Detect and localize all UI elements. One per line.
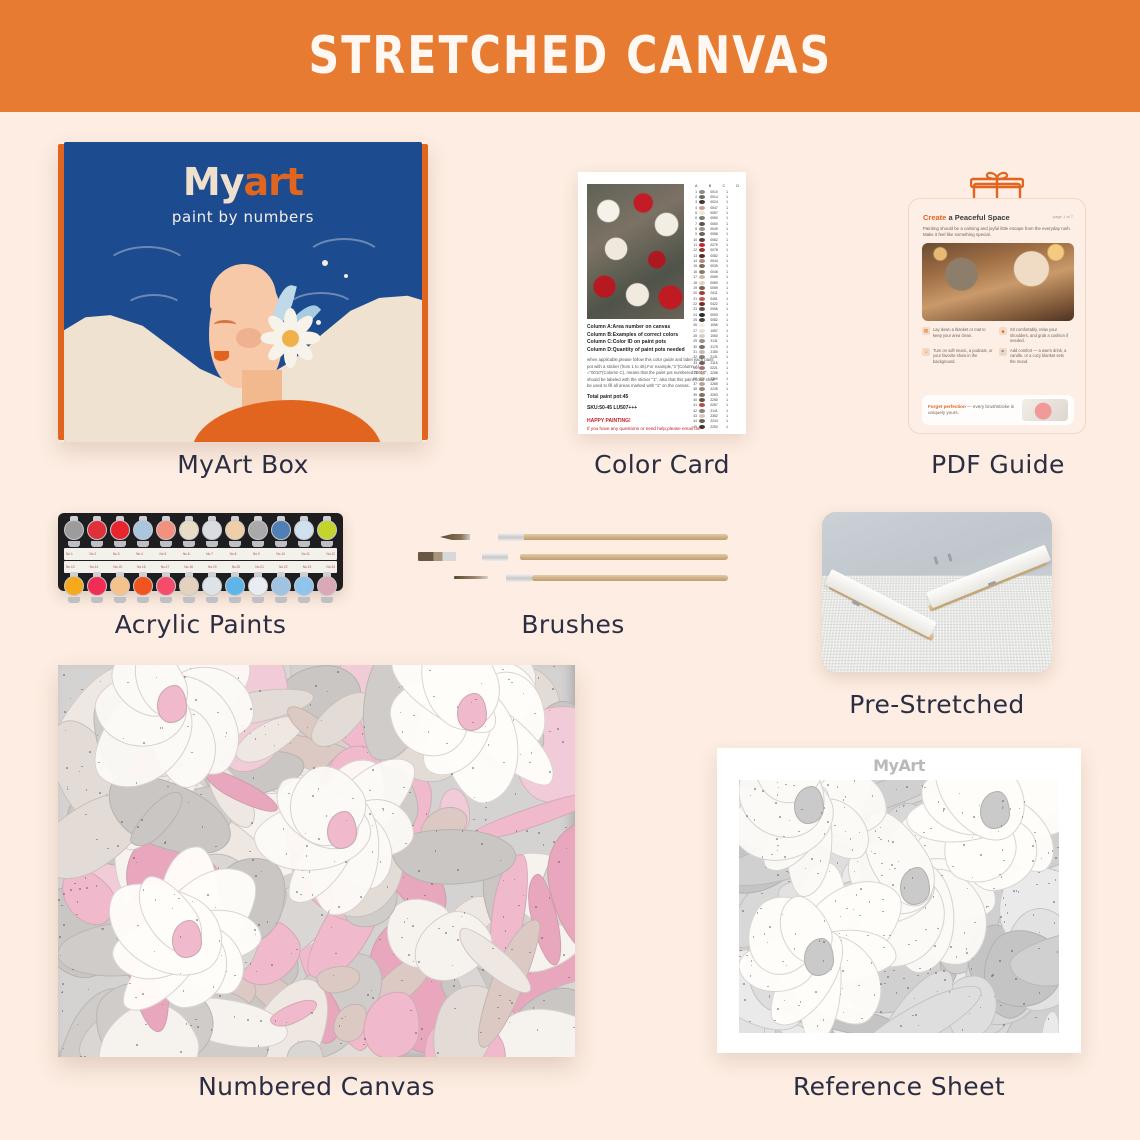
paint-pot [110,518,130,546]
paint-number-speck [762,790,764,792]
paint-number-speck [1053,901,1055,903]
paint-number-speck [1004,921,1006,923]
paint-number-speck [431,883,433,885]
paint-number-label: No.12 [326,552,335,556]
pdf-page-number: page 1 of 7 [1053,214,1073,219]
paint-number-speck [892,884,894,886]
paint-number-speck [70,889,72,891]
flower-core-region [980,791,1010,829]
paint-number-speck [779,816,781,818]
paint-number-label: No.18 [184,565,193,569]
pdf-guide-title: Create a Peaceful Space [923,213,1010,222]
pdf-tip-item: ☕Add comfort — a warm drink, a candle, o… [999,348,1070,365]
paint-number-speck [950,946,952,948]
pdf-tip-text: Add comfort — a warm drink, a candle, or… [1010,348,1070,365]
paint-number-speck [143,742,145,744]
paint-number-speck [823,941,825,943]
callout-accent: Forget perfection [928,404,966,409]
paint-number-speck [412,925,414,927]
paint-pot [87,574,107,602]
flower-core-region [327,811,357,849]
paint-pot [156,518,176,546]
paint-pot [248,574,268,602]
flower-core-region [172,920,202,958]
paint-number-speck [174,894,176,896]
paint-number-speck [750,975,752,977]
paint-number-speck [234,975,236,977]
paint-number-label: No.1 [66,552,73,556]
paint-number-speck [464,912,466,914]
paint-number-speck [538,677,540,679]
paint-number-speck [966,952,968,954]
pdf-tip-text: Turn on soft music, a podcast, or your f… [933,348,993,365]
cheek-blush [236,328,262,348]
paint-number-speck [145,1024,147,1026]
color-card-text: Column A:Area number on canvas Column B:… [587,324,715,431]
paint-number-speck [999,960,1001,962]
paint-pot [271,574,291,602]
paint-number-speck [186,1023,188,1025]
pdf-title-accent: Create [923,213,946,222]
pdf-tip-item: ♫Turn on soft music, a podcast, or your … [922,348,993,365]
hair-strand-icon [124,294,184,324]
paint-number-speck [405,843,407,845]
paint-number-speck [557,728,559,730]
flower-core-region [157,685,187,723]
paint-number-speck [1023,1003,1025,1005]
flower-core-region [804,938,834,976]
paint-number-speck [1038,872,1040,874]
drink-icon: ☕ [999,348,1007,356]
flower-icon [262,310,318,366]
paint-number-speck [795,933,797,935]
paint-number-speck [133,857,135,859]
paint-pot [202,518,222,546]
paint-number-label: No.17 [161,565,170,569]
paint-number-speck [345,861,347,863]
paint-number-speck [99,792,101,794]
paint-number-speck [537,1029,539,1031]
paint-number-label: No.21 [255,565,264,569]
music-icon: ♫ [922,348,930,356]
box-tagline: paint by numbers [64,208,422,226]
paint-number-speck [251,822,253,824]
reference-sheet-artwork [739,780,1059,1033]
paint-number-speck [889,935,891,937]
callout-thumbnail [1022,399,1068,421]
paint-number-speck [437,1052,439,1054]
paint-number-speck [956,956,958,958]
paint-number-speck [137,826,139,828]
paint-pot [110,574,130,602]
paint-number-speck [933,896,935,898]
paint-number-speck [513,719,515,721]
paint-number-label: No.20 [232,565,241,569]
paint-number-speck [860,888,862,890]
paint-number-speck [915,1014,917,1016]
paint-number-speck [925,929,927,931]
paint-row-bottom [62,574,339,603]
paint-number-speck [369,790,371,792]
paint-number-speck [903,805,905,807]
paint-number-speck [1002,849,1004,851]
paint-number-speck [1015,978,1017,980]
paint-number-speck [62,1010,64,1012]
reference-sheet-logo: MyArt [717,756,1081,775]
paint-number-speck [259,690,261,692]
paint-number-speck [117,845,119,847]
paint-number-speck [526,830,528,832]
paint-number-speck [86,789,88,791]
paint-number-speck [973,816,975,818]
paint-number-speck [503,762,505,764]
paint-number-speck [1057,951,1059,953]
paint-number-speck [529,762,531,764]
paint-number-speck [180,1051,182,1053]
paint-number-speck [1048,852,1050,854]
paint-number-speck [383,809,385,811]
paint-number-label: No.24 [326,565,335,569]
paint-number-speck [250,708,252,710]
paint-number-speck [1018,891,1020,893]
paint-number-speck [1003,1024,1005,1026]
paint-number-speck [837,862,839,864]
paint-number-speck [141,819,143,821]
paint-number-speck [415,1032,417,1034]
paint-number-speck [740,950,742,952]
paint-number-speck [480,1032,482,1034]
paint-number-speck [919,968,921,970]
paint-number-label: No.15 [113,565,122,569]
paint-number-speck [1055,879,1057,881]
paint-number-speck [341,1018,343,1020]
sparkle-dot-icon [316,320,321,325]
paint-pot [225,518,245,546]
paint-number-speck [167,786,169,788]
paint-number-speck [162,727,164,729]
paint-pot [87,518,107,546]
paint-number-speck [252,859,254,861]
paint-number-speck [360,896,362,898]
paint-number-speck [552,688,554,690]
paint-number-speck [562,741,564,743]
paint-number-speck [861,1018,863,1020]
paint-number-speck [859,915,861,917]
paint-number-speck [421,1038,423,1040]
paint-number-speck [498,1018,500,1020]
paint-number-speck [842,970,844,972]
happy-painting-text: HAPPY PAINTING! [587,418,715,424]
paint-number-speck [300,894,302,896]
pdf-tips-list: ▧Lay down a blanket or mat to keep your … [922,327,1074,365]
paint-number-speck [511,1002,513,1004]
paint-number-speck [302,877,304,879]
paint-number-speck [912,1015,914,1017]
paint-number-speck [160,727,162,729]
brush-flat [418,552,728,561]
paint-number-label: No.4 [136,552,143,556]
paint-number-speck [418,870,420,872]
paint-number-speck [788,881,790,883]
paint-number-speck [313,767,315,769]
paint-number-speck [217,712,219,714]
paint-number-speck [934,945,936,947]
pdf-guide-image: Create a Peaceful Space page 1 of 7 Pain… [908,170,1086,434]
paint-number-speck [1013,890,1015,892]
paint-pot [202,574,222,602]
paint-number-speck [751,960,753,962]
pdf-tip-text: Sit comfortably, relax your shoulders, a… [1010,327,1070,344]
paint-number-speck [431,981,433,983]
paint-number-speck [321,914,323,916]
paint-number-speck [1000,1005,1002,1007]
product-infographic: STRETCHED CANVAS [0,0,1140,1140]
paint-number-speck [318,838,320,840]
paint-pot [133,518,153,546]
instruction-line: Column B:Examples of correct colors [587,332,715,340]
paint-number-speck [892,841,894,843]
paint-number-speck [943,808,945,810]
page-header: STRETCHED CANVAS [0,0,1140,112]
paint-number-speck [184,676,186,678]
paint-number-speck [565,827,567,829]
paint-number-speck [453,985,455,987]
brushes-image [418,528,728,592]
paint-number-label: No.7 [206,552,213,556]
paint-number-speck [86,887,88,889]
paint-number-speck [906,786,908,788]
paint-number-speck [288,793,290,795]
box-front-face: Myart paint by numbers [64,142,422,442]
paint-number-speck [492,948,494,950]
paint-number-speck [1032,845,1034,847]
paint-number-speck [451,773,453,775]
paint-number-label: No.6 [183,552,190,556]
paint-number-speck [1022,816,1024,818]
paint-number-label: No.19 [208,565,217,569]
paint-number-speck [966,948,968,950]
paint-number-speck [296,891,298,893]
paint-number-speck [538,832,540,834]
paint-number-speck [917,975,919,977]
flower-core-region [794,786,824,824]
logo-my-text: My [183,160,244,204]
flower-core-region [457,693,487,731]
paint-label-strip: No.13No.14No.15No.16No.17No.18No.19No.20… [64,561,337,573]
paint-number-speck [880,1011,882,1013]
paint-number-speck [811,858,813,860]
paint-number-speck [509,1000,511,1002]
paint-number-speck [309,871,311,873]
paint-number-speck [543,1000,545,1002]
paint-number-speck [312,795,314,797]
paint-number-speck [335,953,337,955]
paint-number-speck [1057,847,1059,849]
paint-number-speck [326,815,328,817]
paint-number-speck [271,964,273,966]
reference-sheet-image: MyArt [717,748,1081,1053]
paint-number-speck [907,987,909,989]
paint-number-speck [824,807,826,809]
paint-number-speck [426,813,428,815]
caption-reference-sheet: Reference Sheet [717,1072,1081,1101]
paint-number-speck [337,671,339,673]
paint-number-speck [283,828,285,830]
paint-number-speck [993,888,995,890]
paint-number-speck [502,669,504,671]
paint-number-speck [63,674,65,676]
instruction-body: when applicable,please follow this color… [587,357,715,390]
paint-number-speck [858,985,860,987]
paint-number-speck [482,969,484,971]
caption-pre-stretched: Pre-Stretched [822,690,1052,719]
paint-number-speck [543,844,545,846]
paint-number-label: No.16 [137,565,146,569]
paint-number-speck [296,949,298,951]
paint-number-label: No.11 [302,552,310,556]
brush-round [440,532,728,541]
paint-number-speck [784,856,786,858]
paint-number-speck [247,1019,249,1021]
paint-number-speck [775,802,777,804]
paint-number-speck [364,1038,366,1040]
paint-number-speck [764,933,766,935]
paint-number-speck [136,1044,138,1046]
contact-text: If you have any questions or need help,p… [587,426,715,431]
paint-number-speck [760,908,762,910]
paint-number-speck [255,875,257,877]
paint-number-speck [429,670,431,672]
paint-number-speck [392,813,394,815]
paint-number-speck [746,815,748,817]
flower-core-region [900,867,930,905]
paint-number-speck [1002,800,1004,802]
paint-number-speck [213,986,215,988]
paint-number-speck [798,1005,800,1007]
paint-number-label: No.14 [90,565,99,569]
paint-number-label: No.22 [279,565,288,569]
paint-number-speck [827,784,829,786]
caption-acrylic-paints: Acrylic Paints [58,610,343,639]
paint-number-speck [549,771,551,773]
paint-number-speck [880,983,882,985]
paint-number-speck [823,960,825,962]
paint-number-speck [991,975,993,977]
paint-number-speck [421,1028,423,1030]
sku-text: SKU:50-45 LU507+++ [587,405,715,413]
paint-number-speck [949,991,951,993]
paint-number-speck [785,784,787,786]
paint-number-speck [986,906,988,908]
paint-number-label: No.13 [66,565,75,569]
paint-number-speck [380,861,382,863]
paint-number-speck [364,726,366,728]
paint-number-label: No.23 [303,565,312,569]
numbered-canvas-image [58,665,575,1057]
paint-number-speck [328,911,330,913]
paint-number-speck [943,970,945,972]
paint-number-speck [964,932,966,934]
paint-number-speck [553,841,555,843]
lips [214,351,229,361]
color-card-photo [587,184,684,319]
paint-number-speck [424,895,426,897]
paint-number-speck [935,972,937,974]
instruction-line: Column D:Quantity of paint pots needed [587,347,715,355]
logo-art-text: art [244,160,304,204]
paint-number-speck [742,910,744,912]
paint-number-speck [744,999,746,1001]
paint-number-label: No.2 [89,552,96,556]
paint-number-speck [884,971,886,973]
pdf-subtitle: Painting should be a calming and joyful … [923,226,1071,239]
paint-number-speck [472,767,474,769]
paint-number-speck [739,956,741,958]
paint-number-speck [197,1026,199,1028]
paint-number-label: No.9 [253,552,260,556]
pdf-guide-card: Create a Peaceful Space page 1 of 7 Pain… [908,198,1086,434]
paint-number-speck [777,874,779,876]
paint-number-speck [338,906,340,908]
paint-number-speck [63,924,65,926]
paint-number-speck [769,926,771,928]
paint-number-speck [777,794,779,796]
paint-number-speck [777,1008,779,1010]
caption-numbered-canvas: Numbered Canvas [58,1072,575,1101]
paint-number-speck [121,821,123,823]
paint-pot [317,518,337,546]
paint-pot [248,518,268,546]
paint-number-speck [219,995,221,997]
paint-pot [179,518,199,546]
brush-liner [454,573,728,582]
caption-brushes: Brushes [418,610,728,639]
paint-number-speck [817,1025,819,1027]
paint-number-speck [253,777,255,779]
paint-number-speck [207,894,209,896]
paint-number-speck [872,795,874,797]
sparkle-dot-icon [322,260,328,266]
myart-box-image: Myart paint by numbers [58,142,428,442]
paint-number-label: No.5 [160,552,167,556]
paint-pot [294,518,314,546]
paint-number-speck [535,906,537,908]
paint-number-speck [244,730,246,732]
paint-number-speck [963,844,965,846]
paint-number-speck [372,769,374,771]
paint-number-speck [59,936,61,938]
pdf-tip-text: Lay down a blanket or mat to keep your a… [933,327,993,338]
caption-pdf-guide: PDF Guide [898,450,1098,479]
pdf-callout: Forget perfection — every brushstroke is… [922,395,1074,425]
paint-number-speck [900,1025,902,1027]
total-paint-pots: Total paint pot:45 [587,394,715,402]
paint-number-speck [827,821,829,823]
paint-number-speck [874,853,876,855]
caption-color-card: Color Card [578,450,746,479]
paint-number-speck [793,785,795,787]
callout-text: Forget perfection — every brushstroke is… [928,404,1017,417]
paint-number-speck [306,845,308,847]
paint-number-speck [497,1007,499,1009]
paint-number-speck [1010,808,1012,810]
paint-pot [133,574,153,602]
paint-number-speck [944,979,946,981]
paint-number-speck [401,980,403,982]
paint-number-speck [85,877,87,879]
paint-pot [64,518,84,546]
paint-number-speck [573,1027,575,1029]
